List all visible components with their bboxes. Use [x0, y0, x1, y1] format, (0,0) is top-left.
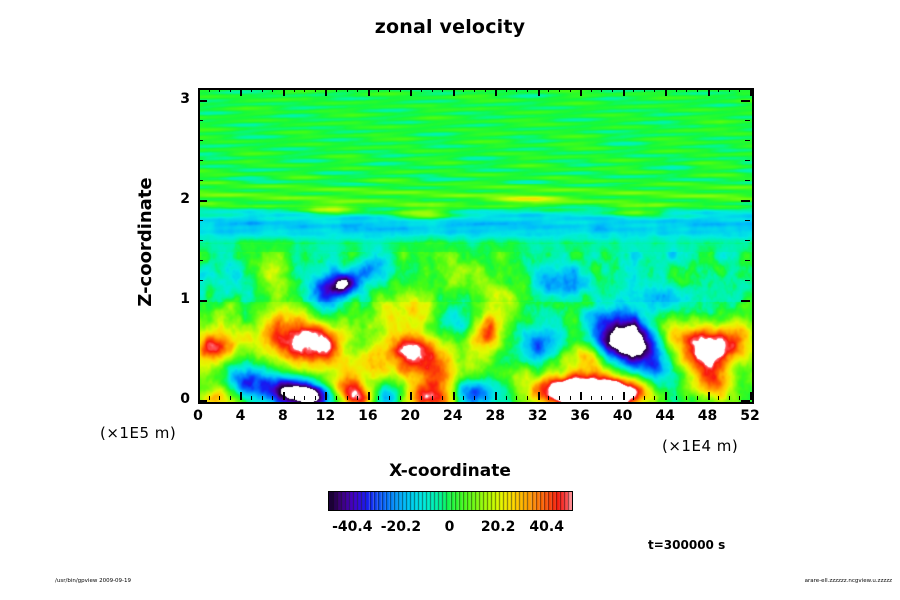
x-minor-tick — [432, 396, 433, 400]
page-title: zonal velocity — [0, 16, 900, 38]
y-tick-label: 3 — [150, 91, 190, 107]
y-tick-label: 0 — [150, 391, 190, 407]
x-minor-tick — [676, 396, 677, 400]
y-major-tick-right — [741, 200, 750, 202]
x-minor-tick-top — [570, 88, 571, 92]
x-minor-tick — [718, 396, 719, 400]
x-minor-tick — [378, 396, 379, 400]
x-minor-tick-top — [612, 88, 613, 92]
x-minor-tick — [304, 396, 305, 400]
x-major-tick-top — [623, 88, 625, 96]
y-minor-tick-right — [745, 240, 750, 241]
x-major-tick-top — [665, 88, 667, 96]
y-minor-tick-right — [745, 180, 750, 181]
x-minor-tick-top — [739, 88, 740, 92]
y-major-tick — [198, 400, 207, 402]
y-axis-title: Z-coordinate — [135, 92, 156, 392]
y-minor-tick-right — [745, 220, 750, 221]
x-minor-tick-top — [644, 88, 645, 92]
x-tick-label: 0 — [178, 408, 218, 424]
x-minor-tick-top — [633, 88, 634, 92]
x-minor-tick-top — [262, 88, 263, 92]
x-minor-tick — [516, 396, 517, 400]
zonal-velocity-heatmap — [200, 90, 752, 402]
y-tick-label: 2 — [150, 191, 190, 207]
x-minor-tick — [601, 396, 602, 400]
x-tick-label: 40 — [603, 408, 643, 424]
x-minor-tick — [421, 396, 422, 400]
x-tick-label: 52 — [730, 408, 770, 424]
x-minor-tick — [262, 396, 263, 400]
x-minor-tick — [474, 396, 475, 400]
colorbar — [328, 491, 573, 511]
x-minor-tick-top — [230, 88, 231, 92]
y-major-tick-right — [741, 300, 750, 302]
x-minor-tick — [485, 396, 486, 400]
x-minor-tick — [686, 396, 687, 400]
x-major-tick — [538, 392, 540, 400]
y-minor-tick — [198, 240, 203, 241]
x-major-tick — [495, 392, 497, 400]
y-minor-tick — [198, 120, 203, 121]
y-minor-tick — [198, 140, 203, 141]
x-tick-label: 4 — [220, 408, 260, 424]
x-minor-tick-top — [697, 88, 698, 92]
x-major-tick-top — [240, 88, 242, 96]
x-minor-tick-top — [591, 88, 592, 92]
x-major-tick-top — [283, 88, 285, 96]
x-minor-tick-top — [315, 88, 316, 92]
x-minor-tick-top — [400, 88, 401, 92]
x-minor-tick-top — [729, 88, 730, 92]
x-minor-tick-top — [718, 88, 719, 92]
x-minor-tick-top — [336, 88, 337, 92]
x-major-tick — [453, 392, 455, 400]
x-tick-label: 48 — [688, 408, 728, 424]
x-axis-title: X-coordinate — [0, 461, 900, 481]
x-minor-tick-top — [463, 88, 464, 92]
y-minor-tick-right — [745, 160, 750, 161]
x-minor-tick — [347, 396, 348, 400]
x-major-tick — [623, 392, 625, 400]
colorbar-tick-label: 40.4 — [517, 519, 577, 535]
x-minor-tick-top — [442, 88, 443, 92]
x-major-tick-top — [538, 88, 540, 96]
y-minor-tick — [198, 180, 203, 181]
x-tick-label: 12 — [305, 408, 345, 424]
x-major-tick-top — [495, 88, 497, 96]
x-minor-tick — [400, 396, 401, 400]
x-tick-label: 32 — [518, 408, 558, 424]
x-minor-tick — [442, 396, 443, 400]
x-tick-label: 20 — [390, 408, 430, 424]
x-minor-tick — [294, 396, 295, 400]
x-minor-tick — [570, 396, 571, 400]
x-major-tick-top — [708, 88, 710, 96]
x-minor-tick — [463, 396, 464, 400]
x-minor-tick-top — [686, 88, 687, 92]
x-minor-tick — [209, 396, 210, 400]
x-minor-tick-top — [485, 88, 486, 92]
x-major-tick — [240, 392, 242, 400]
y-minor-tick — [198, 260, 203, 261]
x-minor-tick-top — [654, 88, 655, 92]
y-minor-tick-right — [745, 280, 750, 281]
x-minor-tick-top — [548, 88, 549, 92]
x-minor-tick-top — [527, 88, 528, 92]
y-minor-tick — [198, 280, 203, 281]
x-minor-tick-top — [516, 88, 517, 92]
x-major-tick-top — [580, 88, 582, 96]
x-tick-label: 16 — [348, 408, 388, 424]
x-minor-tick — [272, 396, 273, 400]
x-minor-tick-top — [304, 88, 305, 92]
x-minor-tick-top — [251, 88, 252, 92]
x-minor-tick — [548, 396, 549, 400]
x-minor-tick — [527, 396, 528, 400]
x-minor-tick-top — [389, 88, 390, 92]
x-minor-tick — [315, 396, 316, 400]
y-tick-label: 1 — [150, 291, 190, 307]
x-major-tick — [325, 392, 327, 400]
x-major-tick — [580, 392, 582, 400]
y-minor-tick-right — [745, 120, 750, 121]
x-minor-tick — [357, 396, 358, 400]
x-major-tick — [665, 392, 667, 400]
y-major-tick-right — [741, 100, 750, 102]
x-minor-tick-top — [432, 88, 433, 92]
x-axis-unit-left: (×1E5 m) — [100, 424, 176, 442]
y-major-tick — [198, 100, 207, 102]
time-stamp: t=300000 s — [648, 538, 725, 552]
x-minor-tick-top — [676, 88, 677, 92]
x-minor-tick-top — [294, 88, 295, 92]
y-minor-tick-right — [745, 140, 750, 141]
y-minor-tick-right — [745, 260, 750, 261]
x-minor-tick — [697, 396, 698, 400]
y-minor-tick — [198, 220, 203, 221]
x-tick-label: 8 — [263, 408, 303, 424]
y-major-tick — [198, 200, 207, 202]
x-minor-tick — [230, 396, 231, 400]
x-minor-tick — [612, 396, 613, 400]
footer-source: arare-ell.zzzzzz.ncgview.u.zzzzz — [805, 578, 892, 584]
x-minor-tick — [559, 396, 560, 400]
colorbar-gradient — [329, 492, 572, 510]
y-major-tick — [198, 300, 207, 302]
x-major-tick-top — [368, 88, 370, 96]
x-major-tick-top — [410, 88, 412, 96]
x-minor-tick-top — [378, 88, 379, 92]
x-minor-tick — [219, 396, 220, 400]
x-minor-tick-top — [506, 88, 507, 92]
x-minor-tick-top — [219, 88, 220, 92]
x-minor-tick-top — [209, 88, 210, 92]
x-major-tick-top — [325, 88, 327, 96]
y-minor-tick — [198, 160, 203, 161]
x-minor-tick — [336, 396, 337, 400]
x-minor-tick-top — [559, 88, 560, 92]
x-tick-label: 36 — [560, 408, 600, 424]
x-minor-tick-top — [272, 88, 273, 92]
x-major-tick — [198, 392, 200, 400]
x-major-tick — [368, 392, 370, 400]
x-tick-label: 28 — [475, 408, 515, 424]
x-minor-tick — [654, 396, 655, 400]
footer-command: /usr/bin/gpview 2009-09-19 — [55, 578, 131, 584]
x-minor-tick — [633, 396, 634, 400]
x-minor-tick-top — [421, 88, 422, 92]
x-minor-tick — [729, 396, 730, 400]
y-major-tick-right — [741, 400, 750, 402]
x-minor-tick-top — [474, 88, 475, 92]
x-minor-tick-top — [357, 88, 358, 92]
x-major-tick-top — [750, 88, 752, 96]
x-tick-label: 24 — [433, 408, 473, 424]
x-major-tick — [283, 392, 285, 400]
x-minor-tick — [591, 396, 592, 400]
x-major-tick — [410, 392, 412, 400]
x-minor-tick-top — [601, 88, 602, 92]
x-minor-tick — [506, 396, 507, 400]
x-major-tick-top — [198, 88, 200, 96]
x-minor-tick — [389, 396, 390, 400]
contour-plot-frame — [198, 88, 754, 404]
x-tick-label: 44 — [645, 408, 685, 424]
x-minor-tick — [644, 396, 645, 400]
x-major-tick — [750, 392, 752, 400]
x-axis-unit-right: (×1E4 m) — [662, 437, 738, 455]
x-minor-tick-top — [347, 88, 348, 92]
x-minor-tick — [251, 396, 252, 400]
x-major-tick-top — [453, 88, 455, 96]
x-major-tick — [708, 392, 710, 400]
